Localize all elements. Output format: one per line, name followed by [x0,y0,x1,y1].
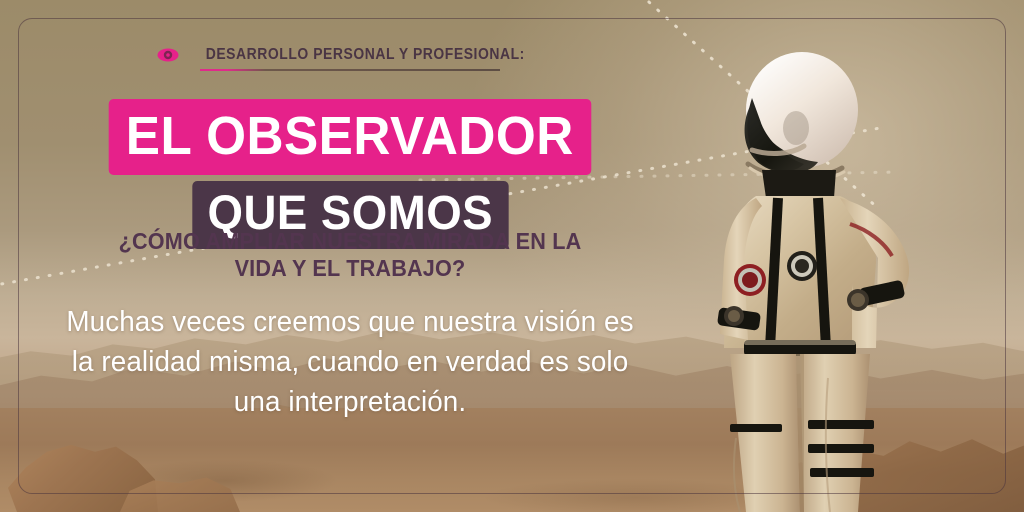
legs [730,354,874,512]
eyebrow-text: DESARROLLO PERSONAL Y PROFESIONAL: [206,46,525,64]
body-copy-block: Muchas veces creemos que nuestra visión … [14,302,686,422]
eyebrow-row: DESARROLLO PERSONAL Y PROFESIONAL: [157,46,543,64]
poster-canvas: DESARROLLO PERSONAL Y PROFESIONAL: EL OB… [0,0,1024,512]
body-line-2: la realidad misma, cuando en verdad es s… [14,342,686,382]
body-line-1: Muchas veces creemos que nuestra visión … [14,302,686,342]
neck-collar [762,170,836,198]
eyebrow-underline [200,69,500,71]
astronaut-figure [700,48,1000,512]
eyebrow-block: DESARROLLO PERSONAL Y PROFESIONAL: [0,46,700,71]
torso [717,196,909,356]
question-line-1: ¿CÓMO AMPLIAR NUESTRA MIRADA EN LA [21,228,679,255]
title-block: EL OBSERVADOR QUE SOMOS [0,99,700,249]
title-line-1: EL OBSERVADOR [109,99,591,175]
eye-icon [157,48,179,62]
helmet [745,52,858,181]
question-block: ¿CÓMO AMPLIAR NUESTRA MIRADA EN LA VIDA … [21,228,679,282]
content-column: DESARROLLO PERSONAL Y PROFESIONAL: EL OB… [0,0,700,512]
question-line-2: VIDA Y EL TRABAJO? [21,255,679,282]
body-line-3: una interpretación. [14,382,686,422]
